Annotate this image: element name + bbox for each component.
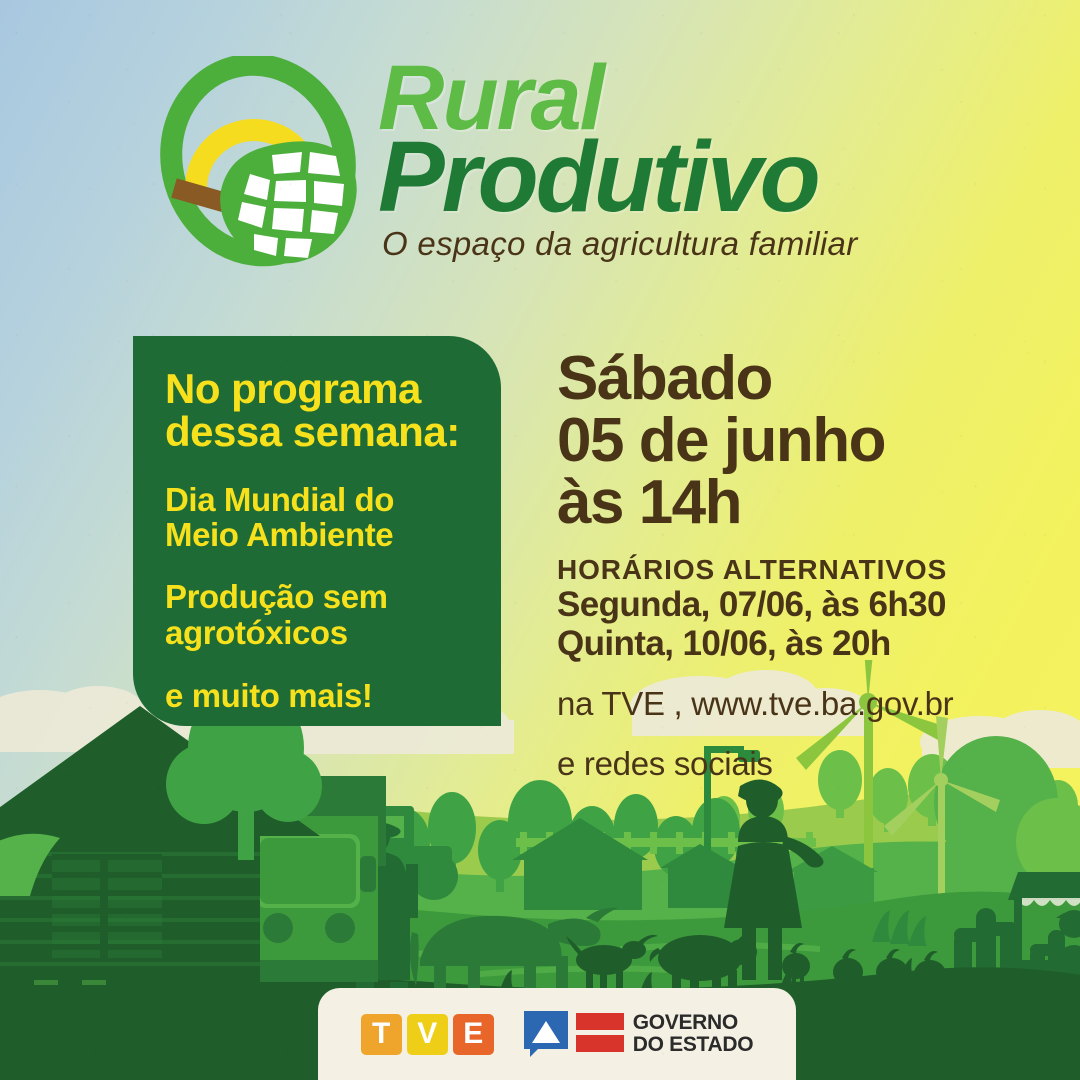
channel-line2: e redes sociais [557,745,1027,783]
panel-topic-1-line2: Meio Ambiente [165,517,501,553]
schedule-block: Sábado 05 de junho às 14h HORÁRIOS ALTER… [557,348,1027,782]
government-wordmark: GOVERNO DO ESTADO [633,1012,754,1056]
air-date-line2: 05 de junho [557,410,1027,472]
panel-topic-3-line1: e muito mais! [165,678,501,714]
alt-time-2: Quinta, 10/06, às 20h [557,625,1027,664]
panel-topic-1-line1: Dia Mundial do [165,482,501,518]
bahia-flag-icon [524,1011,624,1057]
panel-topic-2: Produção sem agrotóxicos [165,579,501,650]
government-line2: DO ESTADO [633,1034,754,1056]
brand-logo: Rural Produtivo O espaço da agricultura … [150,48,940,288]
footer-logo-card: T V E GOVERNO DO ESTADO [318,988,796,1080]
tve-letter-v: V [407,1014,448,1055]
government-logo[interactable]: GOVERNO DO ESTADO [524,1011,754,1057]
brand-tagline: O espaço da agricultura familiar [382,225,938,263]
brand-name-line2: Produtivo [378,131,938,223]
panel-topic-2-line1: Produção sem [165,579,501,615]
panel-topic-1: Dia Mundial do Meio Ambiente [165,482,501,553]
tve-letter-t: T [361,1014,402,1055]
panel-topic-3: e muito mais! [165,678,501,714]
alt-time-1: Segunda, 07/06, às 6h30 [557,586,1027,625]
air-date-line1: Sábado [557,348,1027,410]
panel-heading-line2: dessa semana: [165,411,501,454]
tve-logo[interactable]: T V E [361,1014,494,1055]
panel-topic-2-line2: agrotóxicos [165,615,501,651]
poster-root: Rural Produtivo O espaço da agricultura … [0,0,1080,1080]
weekly-program-panel: No programa dessa semana: Dia Mundial do… [133,336,501,726]
channel-line1[interactable]: na TVE , www.tve.ba.gov.br [557,685,1027,723]
government-line1: GOVERNO [633,1012,754,1034]
tve-letter-e: E [453,1014,494,1055]
alt-times-label: HORÁRIOS ALTERNATIVOS [557,554,1027,586]
panel-heading-line1: No programa [165,368,501,411]
air-time-line: às 14h [557,472,1027,534]
leaf-sun-circle-icon [150,56,370,276]
